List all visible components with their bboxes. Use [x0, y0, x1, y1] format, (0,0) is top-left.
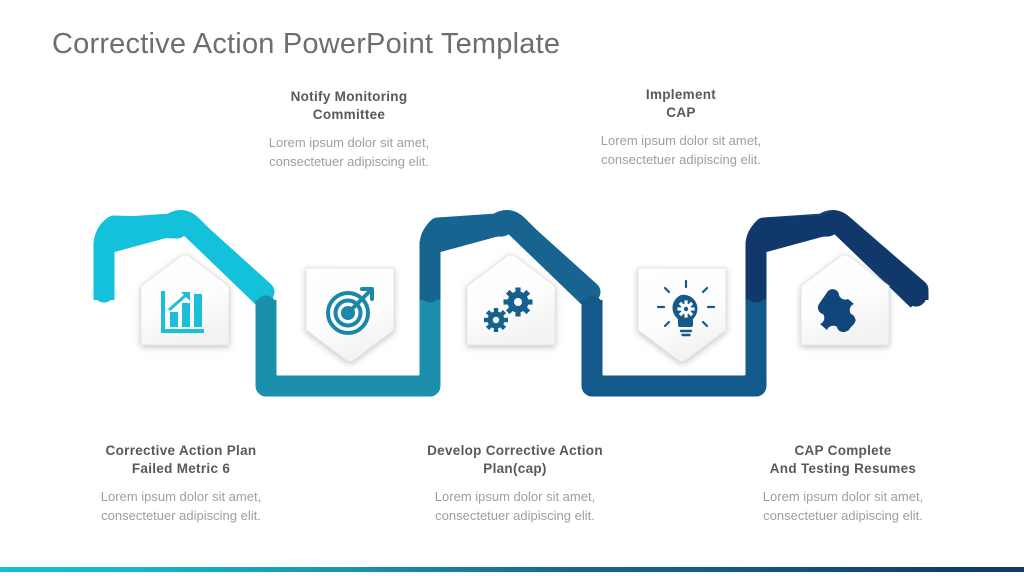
step-caption-4-title: Implement CAP: [540, 86, 822, 122]
connector-ribbon: [104, 222, 918, 386]
step-caption-5-title: CAP Complete And Testing Resumes: [702, 442, 984, 478]
footer-accent-bar: [0, 567, 1024, 572]
bar-chart-growth-icon: [161, 291, 204, 333]
step-caption-5: CAP Complete And Testing Resumes Lorem i…: [702, 442, 984, 525]
connector-segment-3: [430, 220, 592, 300]
step-node-5[interactable]: [801, 255, 889, 346]
gears-icon: [484, 288, 533, 333]
step-node-1-shape: [141, 255, 229, 346]
step-caption-1: Corrective Action Plan Failed Metric 6 L…: [40, 442, 322, 525]
connector-ribbon-rounded: [104, 224, 916, 386]
connector-segment-4: [592, 300, 756, 386]
slide-canvas: Corrective Action PowerPoint Template: [0, 0, 1024, 576]
step-caption-4-body: Lorem ipsum dolor sit amet, consectetuer…: [540, 131, 822, 169]
step-caption-2: Notify Monitoring Committee Lorem ipsum …: [208, 88, 490, 171]
step-node-2-shape: [306, 268, 394, 362]
connector-peak-1: [104, 220, 266, 300]
step-node-3[interactable]: [467, 255, 555, 346]
step-caption-1-title: Corrective Action Plan Failed Metric 6: [40, 442, 322, 478]
connector-segment-5: [756, 220, 918, 300]
step-node-4[interactable]: [638, 268, 726, 362]
step-caption-1-body: Lorem ipsum dolor sit amet, consectetuer…: [40, 487, 322, 525]
step-caption-2-body: Lorem ipsum dolor sit amet, consectetuer…: [208, 133, 490, 171]
step-node-5-shape: [801, 255, 889, 346]
lightbulb-gear-idea-icon: [658, 281, 714, 335]
step-caption-3-title: Develop Corrective Action Plan(cap): [374, 442, 656, 478]
step-caption-2-title: Notify Monitoring Committee: [208, 88, 490, 124]
connector-segment-1: [104, 225, 265, 297]
step-caption-3: Develop Corrective Action Plan(cap) Lore…: [374, 442, 656, 525]
step-node-2[interactable]: [306, 268, 394, 362]
target-arrow-icon: [328, 289, 372, 333]
puzzle-piece-icon: [818, 289, 856, 332]
connector-segment-2: [266, 300, 430, 386]
step-node-4-shape: [638, 268, 726, 362]
step-caption-4: Implement CAP Lorem ipsum dolor sit amet…: [540, 86, 822, 169]
step-caption-5-body: Lorem ipsum dolor sit amet, consectetuer…: [702, 487, 984, 525]
step-caption-3-body: Lorem ipsum dolor sit amet, consectetuer…: [374, 487, 656, 525]
page-title: Corrective Action PowerPoint Template: [52, 28, 560, 61]
step-node-1[interactable]: [141, 255, 229, 346]
step-node-3-shape: [467, 255, 555, 346]
